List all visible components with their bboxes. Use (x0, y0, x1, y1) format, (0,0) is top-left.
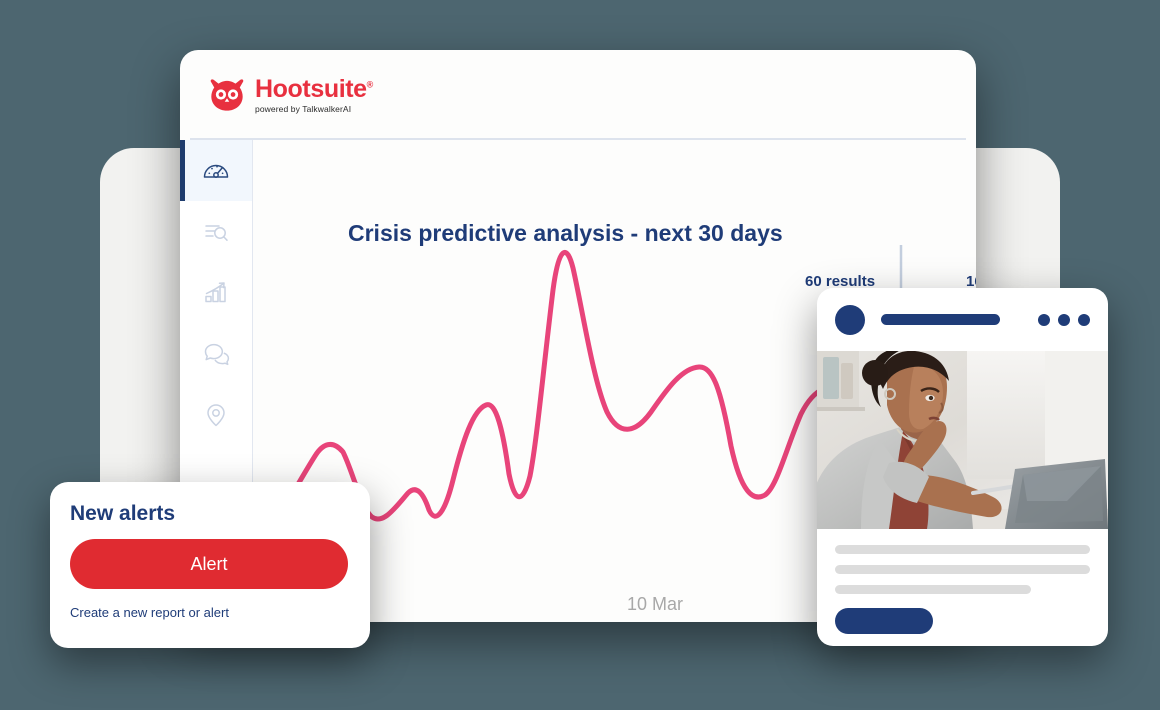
sidebar-item-messages[interactable] (180, 323, 252, 384)
post-photo (817, 351, 1108, 529)
post-card-header (817, 288, 1108, 351)
post-card-body (817, 529, 1108, 639)
brand-logo[interactable]: Hootsuite® powered by TalkwalkerAI (208, 77, 373, 114)
app-header: Hootsuite® powered by TalkwalkerAI (180, 50, 976, 138)
more-dots-icon[interactable] (1038, 314, 1090, 326)
gauge-icon (201, 156, 231, 186)
sidebar-item-locations[interactable] (180, 384, 252, 445)
bar-chart-up-icon (201, 278, 231, 308)
brand-tagline: powered by TalkwalkerAI (255, 105, 373, 114)
post-cta-button[interactable] (835, 608, 933, 634)
text-placeholder-line (835, 545, 1090, 554)
x-tick-label: 10 Mar (627, 594, 683, 615)
sidebar-item-analytics[interactable] (180, 262, 252, 323)
text-placeholder-line (835, 585, 1031, 594)
alerts-card-title: New alerts (70, 502, 350, 526)
brand-trademark: ® (367, 80, 373, 90)
brand-name: Hootsuite® (255, 77, 373, 102)
screenshot-stage: Hootsuite® powered by TalkwalkerAI (0, 0, 1160, 710)
post-title-placeholder (881, 314, 1000, 325)
owl-icon (208, 78, 246, 112)
chat-bubbles-icon (201, 339, 231, 369)
sidebar-item-dashboard[interactable] (180, 140, 252, 201)
businesswoman-at-laptop-photo (817, 351, 1108, 529)
social-post-card (817, 288, 1108, 646)
map-pin-icon (201, 400, 231, 430)
list-search-icon (201, 217, 231, 247)
create-report-or-alert-link[interactable]: Create a new report or alert (70, 605, 350, 620)
avatar[interactable] (835, 305, 865, 335)
text-placeholder-line (835, 565, 1090, 574)
new-alerts-card: New alerts Alert Create a new report or … (50, 482, 370, 648)
sidebar-item-search[interactable] (180, 201, 252, 262)
alert-button[interactable]: Alert (70, 539, 348, 589)
